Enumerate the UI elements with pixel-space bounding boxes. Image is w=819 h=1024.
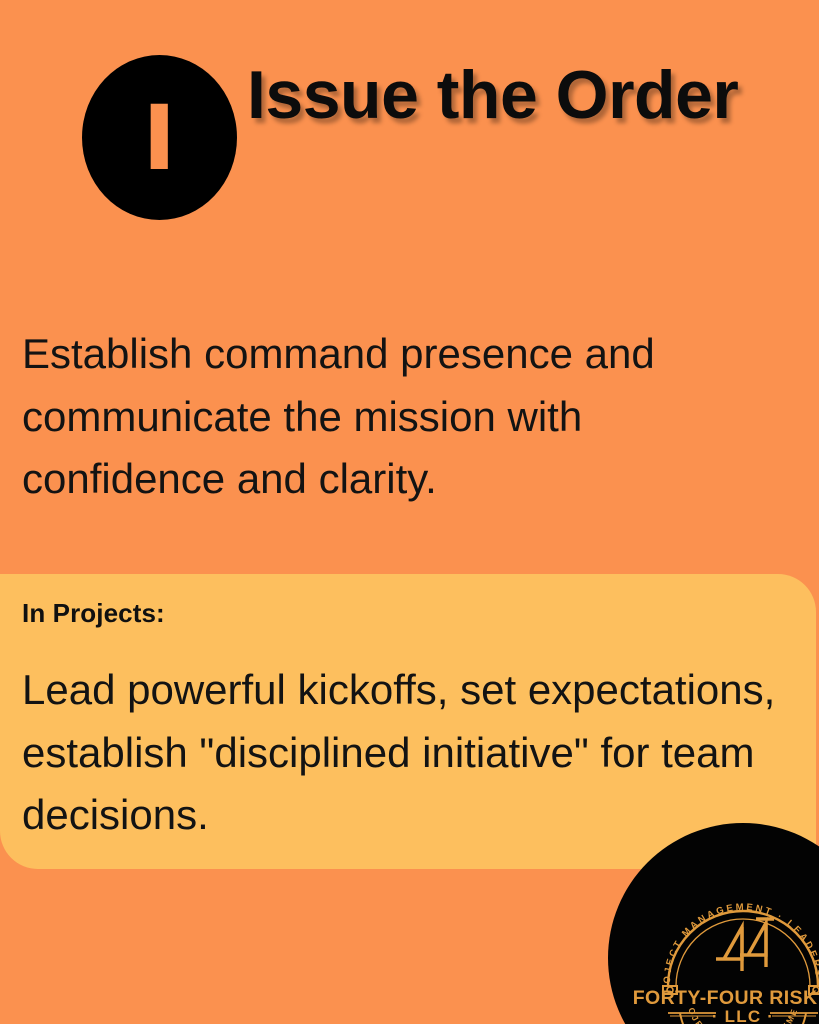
- logo-monogram-44: [716, 919, 774, 971]
- page-title: Issue the Order: [247, 50, 787, 142]
- step-number-badge: I: [82, 55, 237, 220]
- header: I Issue the Order: [0, 0, 819, 250]
- logo-arc-top-text: PROJECT MANAGEMENT · LEADERSHIP: [608, 823, 819, 984]
- intro-body-text: Establish command presence and communica…: [22, 323, 782, 511]
- logo-brand-name: FORTY-FOUR RISK PM: [633, 987, 819, 1009]
- step-number-label: I: [143, 90, 176, 185]
- brand-logo-badge: PROJECT MANAGEMENT · LEADERSHIP FORTY-FO…: [608, 823, 819, 1024]
- brand-logo-icon: PROJECT MANAGEMENT · LEADERSHIP FORTY-FO…: [608, 823, 819, 1024]
- in-projects-label: In Projects:: [22, 598, 165, 629]
- in-projects-body-text: Lead powerful kickoffs, set expectations…: [22, 659, 790, 847]
- logo-entity-label: · LLC ·: [712, 1007, 774, 1024]
- slide-card: I Issue the Order Establish command pres…: [0, 0, 819, 1024]
